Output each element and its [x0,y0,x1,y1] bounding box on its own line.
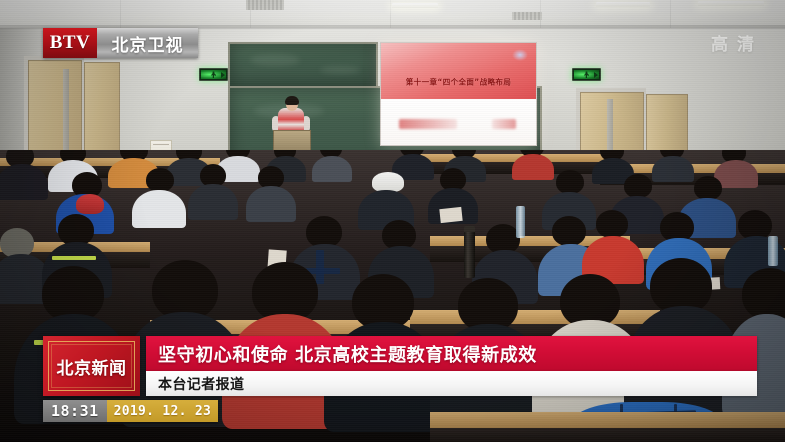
slide-title: 第十一章“四个全面”战略布局 [381,76,536,87]
headline-bar: 坚守初心和使命 北京高校主题教育取得新成效 [146,336,757,371]
ceiling-light [392,3,438,8]
exit-sign-icon [572,68,601,81]
student-head [252,262,318,322]
channel-logo: BTV 北京卫视 [43,28,198,58]
ceiling-vent [246,0,284,10]
student-head [556,170,584,194]
backpack-strap [316,250,324,284]
desk-row [410,310,660,324]
student-body [246,186,296,222]
water-bottle [768,236,778,266]
student-head [152,260,218,320]
lecturer-hair [285,96,299,105]
student-head [146,168,174,192]
ceiling-light [698,1,764,6]
channel-abbrev: BTV [43,28,97,58]
ceiling-vent [512,12,542,20]
student-head [624,174,652,198]
clock-strip: 18:31 2019. 12. 23 [43,400,218,422]
student-body [188,184,238,220]
clock-time: 18:31 [43,400,107,422]
slide-body [381,99,536,145]
student-hood [76,194,104,214]
broadcast-frame: 第十一章“四个全面”战略布局 [0,0,785,442]
student-body [652,156,694,182]
water-bottle [516,206,525,238]
slide-graphic [492,119,516,129]
paper-sheet [439,207,462,223]
exit-sign-icon [199,68,228,81]
program-badge-label: 北京新闻 [57,354,127,379]
classroom-door-left[interactable] [28,60,82,162]
slide-graphic [399,119,457,129]
program-badge: 北京新闻 [43,336,140,396]
classroom-door-left2[interactable] [84,62,120,160]
hd-watermark: 高清 [711,30,763,55]
clock-date: 2019. 12. 23 [107,400,219,422]
student-head [742,268,785,320]
subtitle-text: 本台记者报道 [146,374,244,394]
headline-text: 坚守初心和使命 北京高校主题教育取得新成效 [146,341,537,367]
student-head [596,210,628,238]
desk-row [430,428,785,442]
channel-name: 北京卫视 [97,28,198,58]
chalkboard-upper [228,42,378,88]
desk-row [430,412,785,428]
thermos-cap [464,226,475,232]
ceiling-light [596,2,650,7]
lanyard [52,256,96,260]
student-body [132,190,186,228]
student-head [694,176,722,200]
student-head [552,216,586,246]
thermos [464,230,475,278]
student-cap-icon [372,172,404,192]
audience-seating [0,150,785,442]
subtitle-bar: 本台记者报道 [146,371,757,396]
projection-screen: 第十一章“四个全面”战略布局 [380,42,537,146]
student-body [512,154,554,180]
student-body [312,156,352,182]
screen-glare [512,49,528,61]
